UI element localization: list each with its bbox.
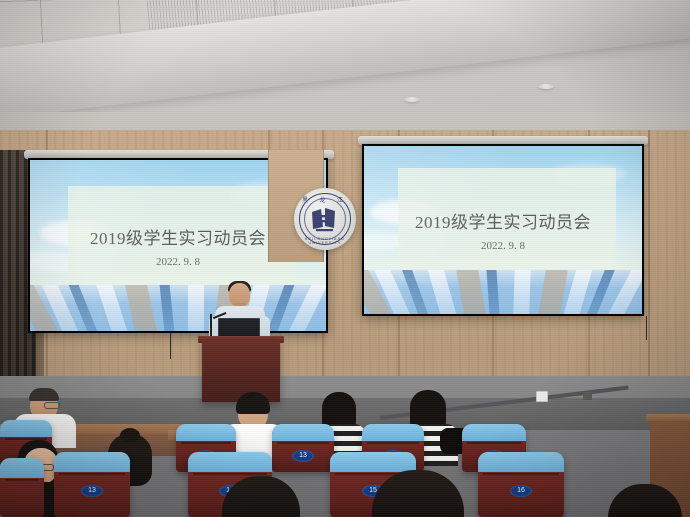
lecture-hall-photo: 2019级学生实习动员会 2022. 9. 8 黑 龙 江 bbox=[0, 0, 690, 517]
wall-socket bbox=[583, 392, 592, 400]
microphone-stem bbox=[210, 314, 212, 336]
right-slide-title: 2019级学生实习动员会 bbox=[364, 208, 642, 233]
emblem-glyph-icon bbox=[308, 206, 342, 234]
side-cabinet-top bbox=[646, 414, 690, 421]
seat-front-16[interactable]: 16 bbox=[478, 452, 564, 517]
audience-hair-student-a bbox=[236, 392, 270, 414]
seat-number-badge: 13 bbox=[292, 450, 314, 462]
downlight-4 bbox=[404, 97, 420, 102]
right-slide-date: 2022. 9. 8 bbox=[364, 240, 642, 252]
seat-number-badge: 16 bbox=[510, 485, 532, 497]
left-screen-cord bbox=[170, 333, 171, 359]
right-screen-cord bbox=[646, 316, 647, 340]
downlight-5 bbox=[538, 84, 554, 89]
seat-back-13[interactable]: 13 bbox=[272, 424, 334, 472]
seat-number-badge: 13 bbox=[81, 485, 103, 497]
audience-hair-elder bbox=[29, 388, 59, 401]
audience-hair-bun bbox=[120, 428, 140, 443]
seat-front-left-edge[interactable] bbox=[0, 458, 44, 517]
emblem-top-text: 黑 龙 江 bbox=[294, 195, 356, 204]
wall-outlet bbox=[536, 391, 548, 402]
emblem-bottom-text: HEILONGJIANG UNIVERSITY bbox=[294, 237, 356, 245]
audience-glasses-elder bbox=[44, 402, 60, 409]
seat-front-13[interactable]: 13 bbox=[54, 452, 130, 517]
university-emblem: 黑 龙 江 HEILONGJIANG UNIVERSITY bbox=[294, 188, 356, 250]
right-projection-screen: 2019级学生实习动员会 2022. 9. 8 bbox=[362, 144, 644, 316]
podium bbox=[202, 340, 280, 402]
